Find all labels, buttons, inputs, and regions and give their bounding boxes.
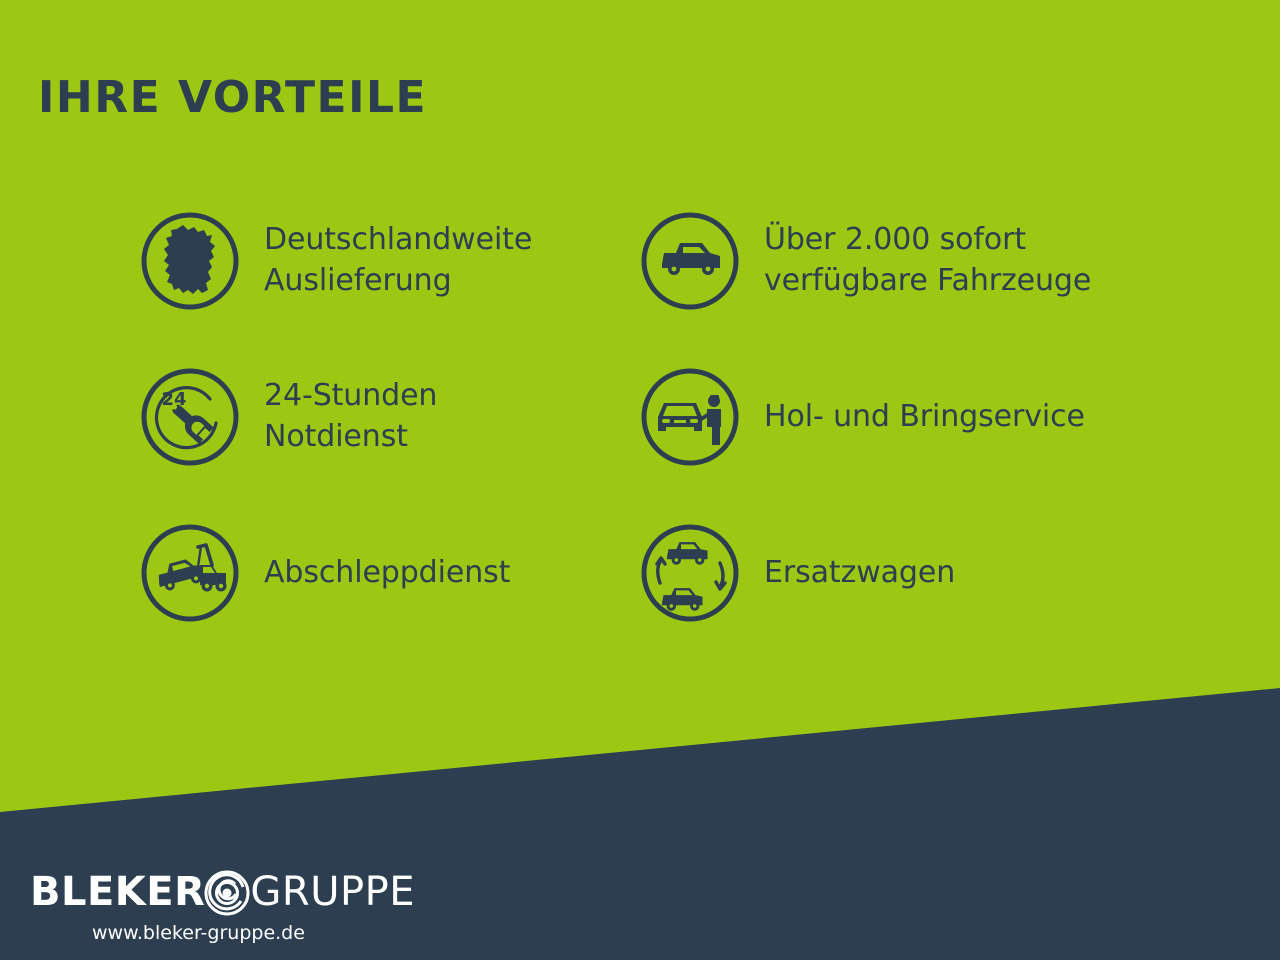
benefit-item-verfuegbare-fahrzeuge[interactable]: Über 2.000 sofort verfügbare Fahrzeuge — [638, 196, 1238, 326]
benefit-item-hol-und-bringservice[interactable]: Hol- und Bringservice — [638, 352, 1238, 482]
benefit-label: Deutschlandweite Auslieferung — [264, 220, 532, 302]
germany-map-icon — [138, 209, 242, 313]
benefit-row: 24 24-Stunden Notdienst — [0, 352, 1280, 508]
slide-canvas: IHRE VORTEILE Deutschlandweite Ausliefer… — [0, 0, 1280, 960]
benefit-item-ersatzwagen[interactable]: Ersatzwagen — [638, 508, 1238, 638]
benefit-item-24-stunden-notdienst[interactable]: 24 24-Stunden Notdienst — [138, 352, 618, 482]
car-with-driver-icon — [638, 365, 742, 469]
two-cars-exchange-icon — [638, 521, 742, 625]
footer-logo[interactable]: BLEKER GRUPPE www.bleker-gruppe.de — [30, 868, 415, 944]
benefit-label: Hol- und Bringservice — [764, 397, 1085, 438]
car-side-icon — [638, 209, 742, 313]
logo-word-gruppe: GRUPPE — [250, 872, 415, 912]
benefit-label: Abschleppdienst — [264, 553, 510, 594]
logo-url[interactable]: www.bleker-gruppe.de — [92, 922, 415, 944]
benefit-row: Deutschlandweite Auslieferung Über 2.000… — [0, 196, 1280, 352]
benefit-label: Über 2.000 sofort verfügbare Fahrzeuge — [764, 220, 1091, 302]
benefit-item-deutschlandweite-auslieferung[interactable]: Deutschlandweite Auslieferung — [138, 196, 618, 326]
page-title: IHRE VORTEILE — [38, 76, 427, 120]
tow-truck-icon — [138, 521, 242, 625]
logo-word-bleker: BLEKER — [30, 872, 205, 912]
logo-wordmark: BLEKER GRUPPE — [30, 868, 415, 916]
benefit-item-abschleppdienst[interactable]: Abschleppdienst — [138, 508, 618, 638]
spiral-circle-icon — [201, 866, 253, 918]
benefit-row: Abschleppdienst — [0, 508, 1280, 664]
benefit-label: Ersatzwagen — [764, 553, 955, 594]
clock-wrench-24-icon: 24 — [138, 365, 242, 469]
benefits-grid: Deutschlandweite Auslieferung Über 2.000… — [0, 196, 1280, 664]
benefit-label: 24-Stunden Notdienst — [264, 376, 437, 458]
